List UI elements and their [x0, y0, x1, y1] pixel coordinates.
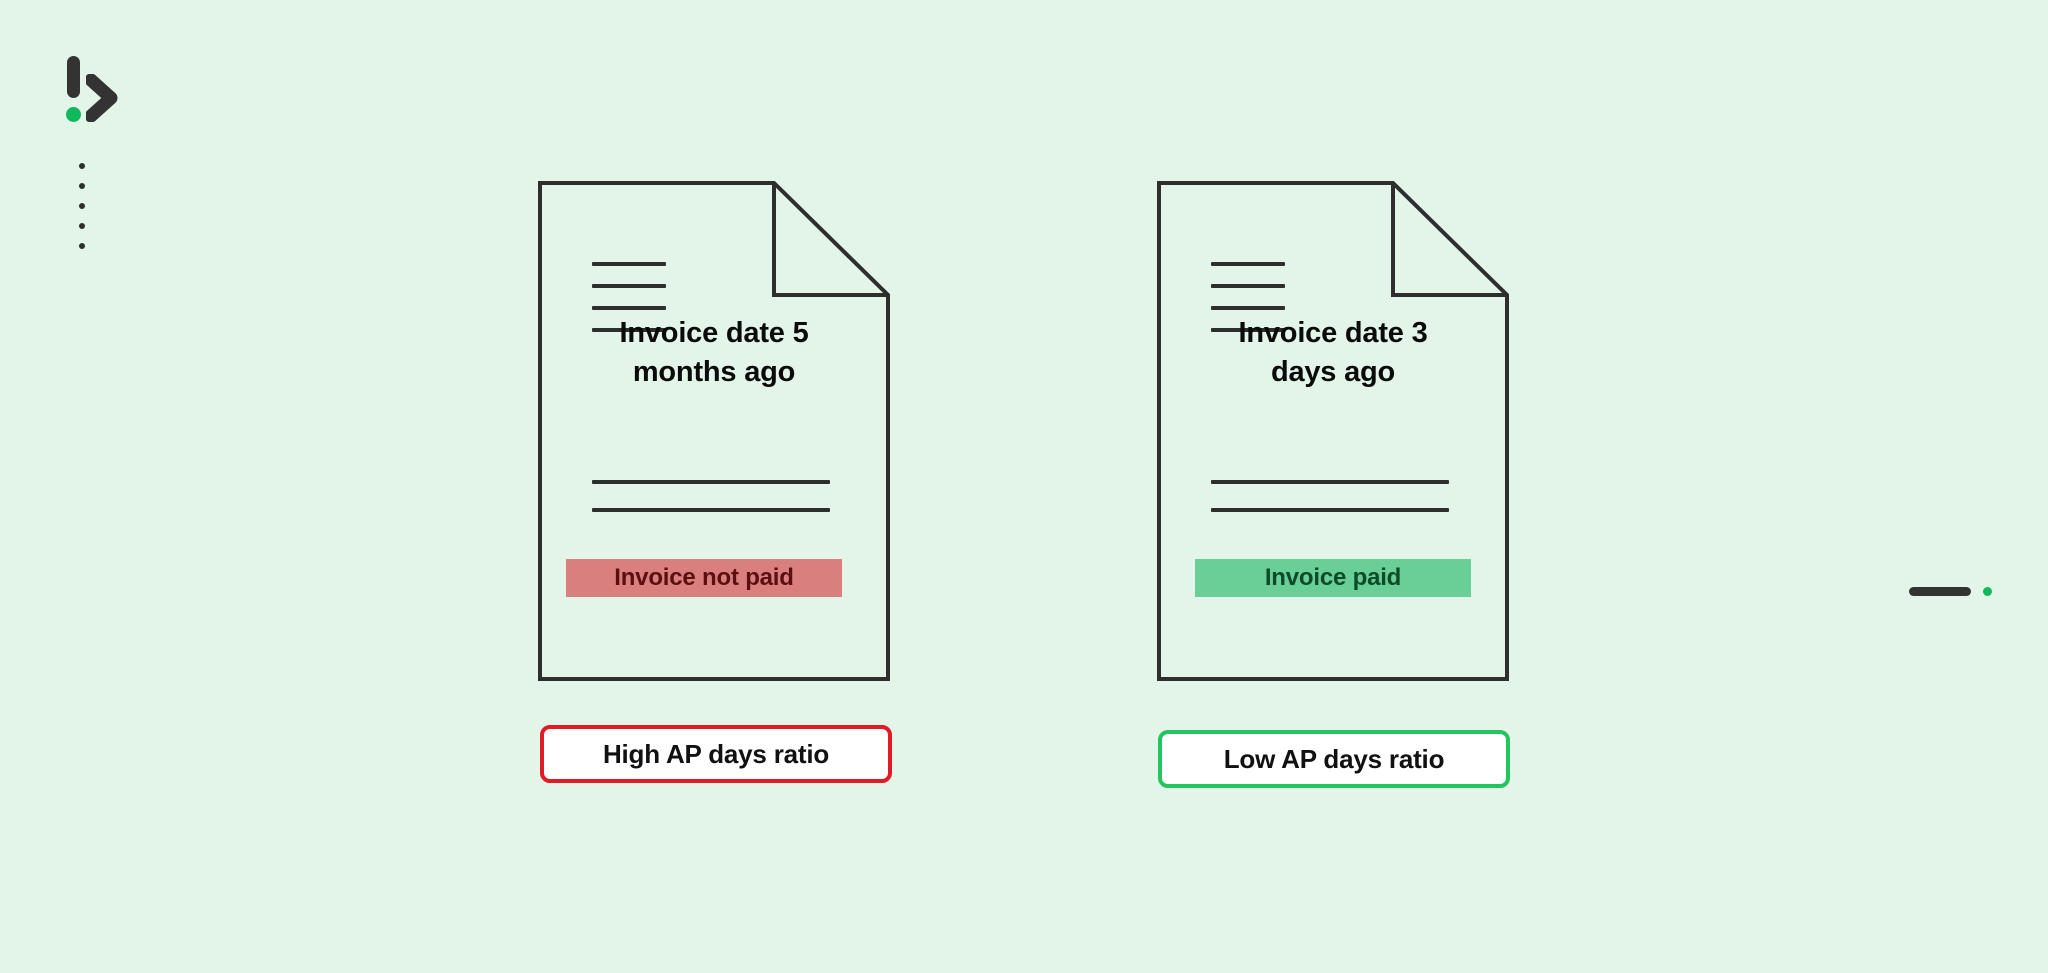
slide-progress-dot[interactable]	[1983, 587, 1992, 596]
body-rule	[1211, 480, 1449, 484]
document-body-rules	[592, 480, 830, 512]
slide-progress-bar[interactable]	[1909, 587, 1971, 596]
invoice-date-heading: Invoice date 3 days ago	[1175, 314, 1491, 391]
document-body-rules	[1211, 480, 1449, 512]
header-rule	[1211, 284, 1285, 288]
status-badge-unpaid: Invoice not paid	[566, 559, 842, 597]
body-rule	[592, 508, 830, 512]
document-sheet-outline-icon	[538, 181, 890, 681]
header-rule	[1211, 306, 1285, 310]
invoice-date-heading-line2: days ago	[1175, 353, 1491, 392]
outcome-pill-high-ap-days-ratio: High AP days ratio	[540, 725, 892, 783]
invoice-comparison: Invoice date 5 months ago Invoice not pa…	[0, 0, 2048, 973]
header-rule	[592, 284, 666, 288]
invoice-date-heading-line1: Invoice date 5	[556, 314, 872, 353]
document-sheet-outline-icon	[1157, 181, 1509, 681]
status-badge-paid: Invoice paid	[1195, 559, 1471, 597]
invoice-date-heading-line2: months ago	[556, 353, 872, 392]
header-rule	[592, 262, 666, 266]
slide-progress-indicator[interactable]	[1909, 587, 1992, 596]
header-rule	[592, 306, 666, 310]
invoice-date-heading-line1: Invoice date 3	[1175, 314, 1491, 353]
outcome-pill-low-ap-days-ratio: Low AP days ratio	[1158, 730, 1510, 788]
invoice-document-unpaid: Invoice date 5 months ago Invoice not pa…	[538, 181, 890, 681]
body-rule	[1211, 508, 1449, 512]
header-rule	[1211, 262, 1285, 266]
body-rule	[592, 480, 830, 484]
invoice-card-paid: Invoice date 3 days ago Invoice paid	[1157, 181, 1509, 681]
invoice-document-paid: Invoice date 3 days ago Invoice paid	[1157, 181, 1509, 681]
invoice-card-unpaid: Invoice date 5 months ago Invoice not pa…	[538, 181, 890, 681]
invoice-date-heading: Invoice date 5 months ago	[556, 314, 872, 391]
